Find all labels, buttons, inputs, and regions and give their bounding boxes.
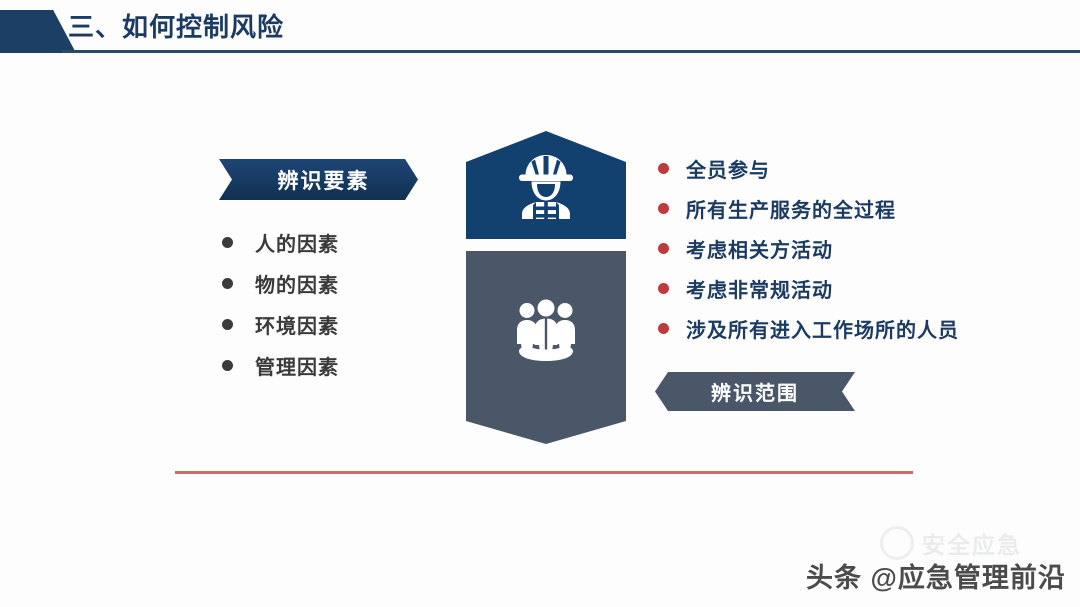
bullet-dot-icon (658, 323, 669, 334)
identify-scope-list: 全员参与 所有生产服务的全过程 考虑相关方活动 考虑非常规活动 涉及所有进入工作… (658, 148, 1058, 348)
center-top-pentagon (466, 131, 626, 239)
header-accent-shape (0, 10, 76, 53)
page-title: 三、如何控制风险 (68, 7, 284, 44)
bullet-dot-icon (222, 360, 233, 371)
attribution-watermark: 头条 @应急管理前沿 (806, 556, 1066, 595)
bullet-dot-icon (658, 283, 669, 294)
list-item-label: 考虑相关方活动 (686, 234, 833, 263)
list-item: 考虑相关方活动 (658, 228, 1058, 268)
identify-scope-banner: 辨识范围 (655, 372, 855, 411)
identify-elements-banner: 辨识要素 (219, 159, 418, 200)
brand-watermark: 安全应急 (880, 526, 1022, 560)
circle-logo-icon (880, 526, 914, 560)
list-item-label: 管理因素 (255, 351, 339, 380)
list-item: 所有生产服务的全过程 (658, 188, 1058, 228)
slide-header: 三、如何控制风险 (0, 0, 1080, 62)
bullet-dot-icon (222, 319, 233, 330)
list-item-label: 物的因素 (255, 269, 339, 298)
bullet-dot-icon (222, 237, 233, 248)
list-item-label: 人的因素 (255, 228, 339, 257)
list-item: 人的因素 (222, 222, 442, 263)
list-item: 全员参与 (658, 148, 1058, 188)
identify-scope-banner-label: 辨识范围 (711, 377, 799, 406)
header-divider-line (62, 50, 1080, 53)
list-item: 考虑非常规活动 (658, 268, 1058, 308)
list-item-label: 涉及所有进入工作场所的人员 (686, 314, 959, 343)
identify-elements-banner-label: 辨识要素 (268, 165, 370, 195)
bullet-dot-icon (222, 278, 233, 289)
list-item-label: 所有生产服务的全过程 (686, 194, 896, 223)
construction-worker-icon (466, 153, 626, 219)
bullet-dot-icon (658, 163, 669, 174)
people-group-icon (466, 299, 626, 361)
bottom-divider-line (175, 471, 913, 474)
brand-watermark-label: 安全应急 (922, 526, 1022, 560)
identify-elements-list: 人的因素 物的因素 环境因素 管理因素 (222, 222, 442, 386)
list-item-label: 全员参与 (686, 154, 770, 183)
list-item: 涉及所有进入工作场所的人员 (658, 308, 1058, 348)
list-item: 物的因素 (222, 263, 442, 304)
list-item: 管理因素 (222, 345, 442, 386)
list-item-label: 考虑非常规活动 (686, 274, 833, 303)
bullet-dot-icon (658, 203, 669, 214)
list-item: 环境因素 (222, 304, 442, 345)
bullet-dot-icon (658, 243, 669, 254)
center-bottom-pentagon (466, 251, 626, 444)
list-item-label: 环境因素 (255, 310, 339, 339)
